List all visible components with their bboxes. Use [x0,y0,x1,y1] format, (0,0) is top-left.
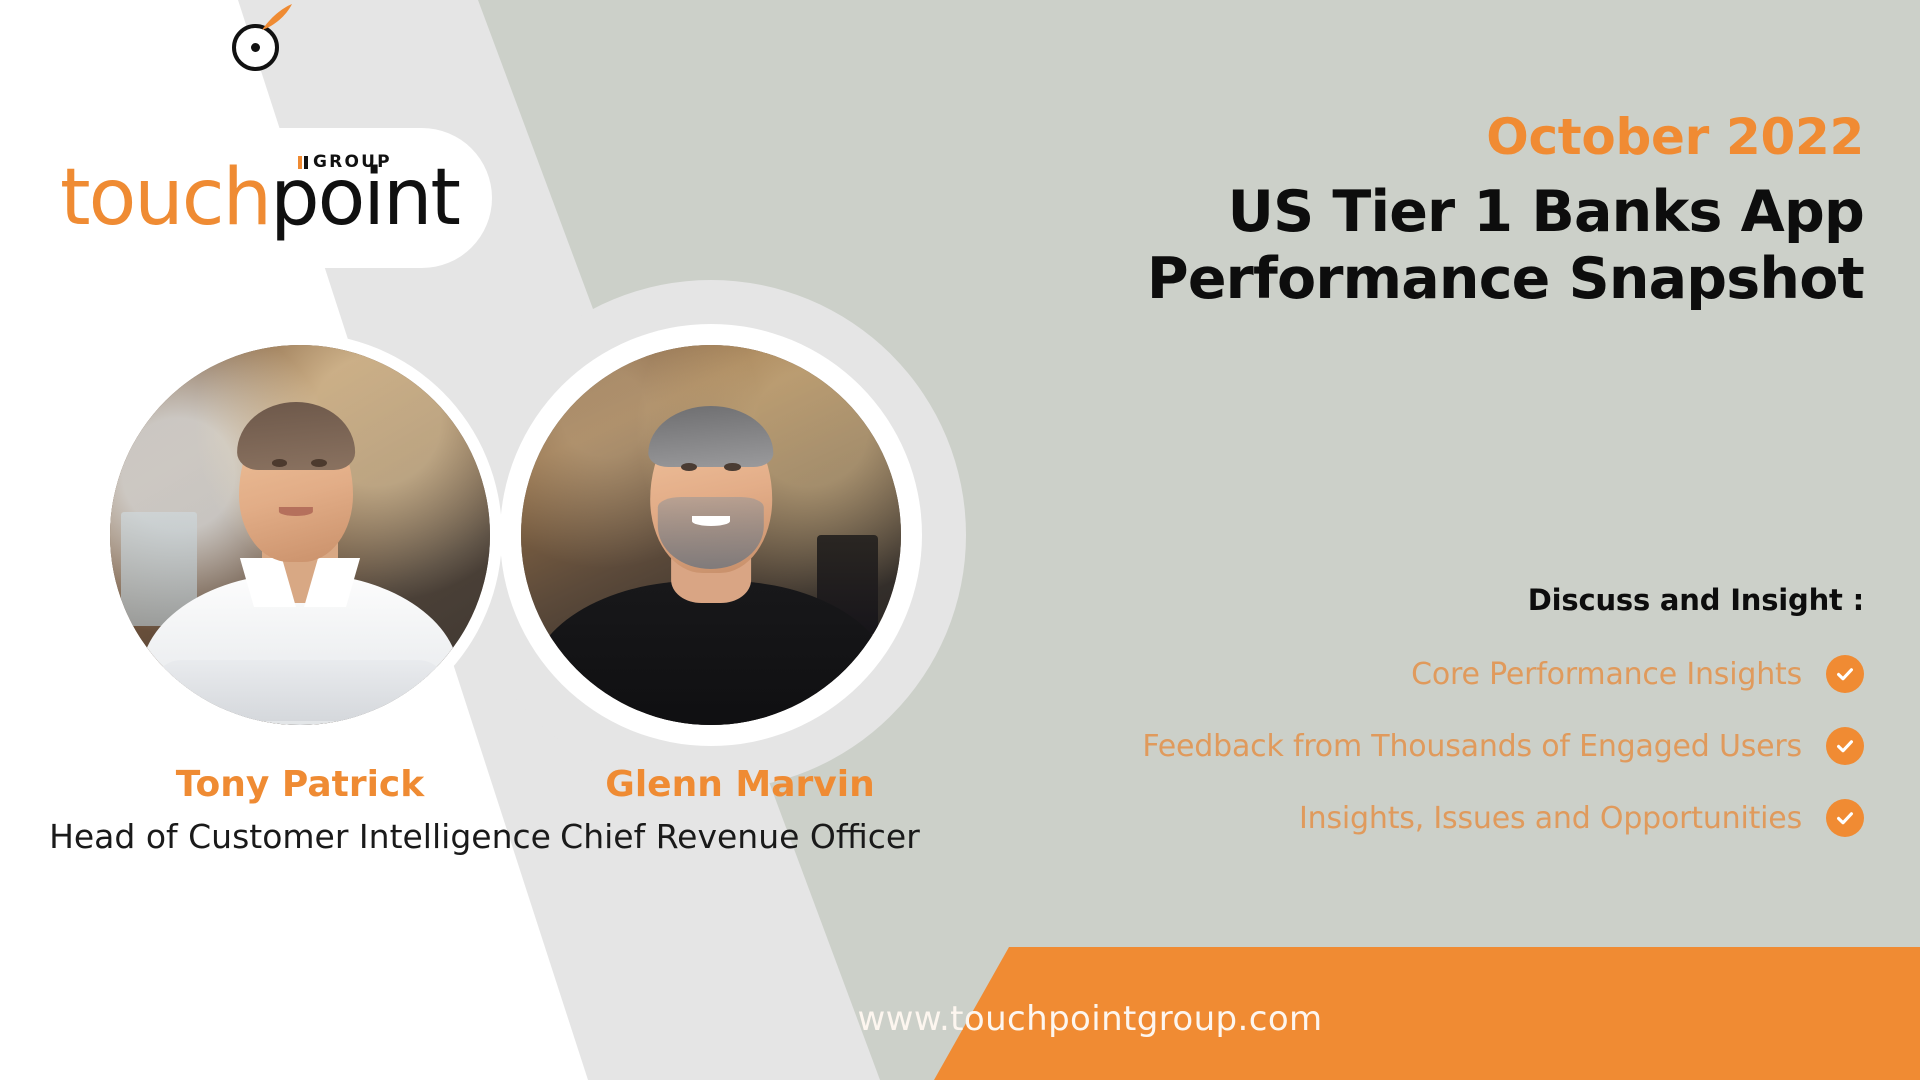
portrait-eye-right-glenn [724,463,741,471]
insight-item[interactable]: Feedback from Thousands of Engaged Users [964,727,1864,765]
logo-word-touch: touch [60,155,270,241]
deck-title-line-2: Performance Snapshot [984,246,1864,313]
insight-item[interactable]: Core Performance Insights [964,655,1864,693]
portrait-arms-tony [152,660,448,721]
portrait-hair-glenn [648,406,773,467]
portrait-mouth-glenn [692,516,730,526]
portrait-hair-tony [237,402,355,470]
speaker-name-glenn: Glenn Marvin [430,765,1050,805]
insight-block: Discuss and Insight : Core Performance I… [964,583,1864,871]
check-circle-icon [1826,799,1864,837]
speaker-caption-glenn: Glenn Marvin Chief Revenue Officer [430,765,1050,857]
logo-group-word: GROUP [313,152,392,172]
insight-list: Core Performance Insights Feedback from … [964,655,1864,837]
portrait-tony-patrick [110,345,490,725]
logo-compass-needle-icon [252,2,294,44]
portrait-photo-glenn [521,345,901,725]
portrait-eye-left-tony [272,459,288,467]
check-circle-icon [1826,727,1864,765]
deck-title: US Tier 1 Banks App Performance Snapshot [984,179,1864,314]
logo-group-bars-icon [298,156,308,169]
deck-date: October 2022 [984,110,1864,165]
footer-website-url[interactable]: www.touchpointgroup.com [0,999,1920,1039]
title-block: October 2022 US Tier 1 Banks App Perform… [984,110,1864,314]
insight-item-label: Core Performance Insights [1411,657,1802,692]
check-circle-icon [1826,655,1864,693]
insight-item[interactable]: Insights, Issues and Opportunities [964,799,1864,837]
insight-item-label: Feedback from Thousands of Engaged Users [1142,729,1802,764]
brand-logo[interactable]: touch point [60,155,459,241]
logo-group-mark: GROUP [298,152,392,172]
insight-heading: Discuss and Insight : [964,583,1864,617]
insight-item-label: Insights, Issues and Opportunities [1299,801,1802,836]
portrait-photo-tony [110,345,490,725]
deck-title-line-1: US Tier 1 Banks App [984,179,1864,246]
portrait-glenn-marvin [521,345,901,725]
slide-root: touch point GROUP [0,0,1920,1080]
speaker-role-glenn: Chief Revenue Officer [430,816,1050,857]
